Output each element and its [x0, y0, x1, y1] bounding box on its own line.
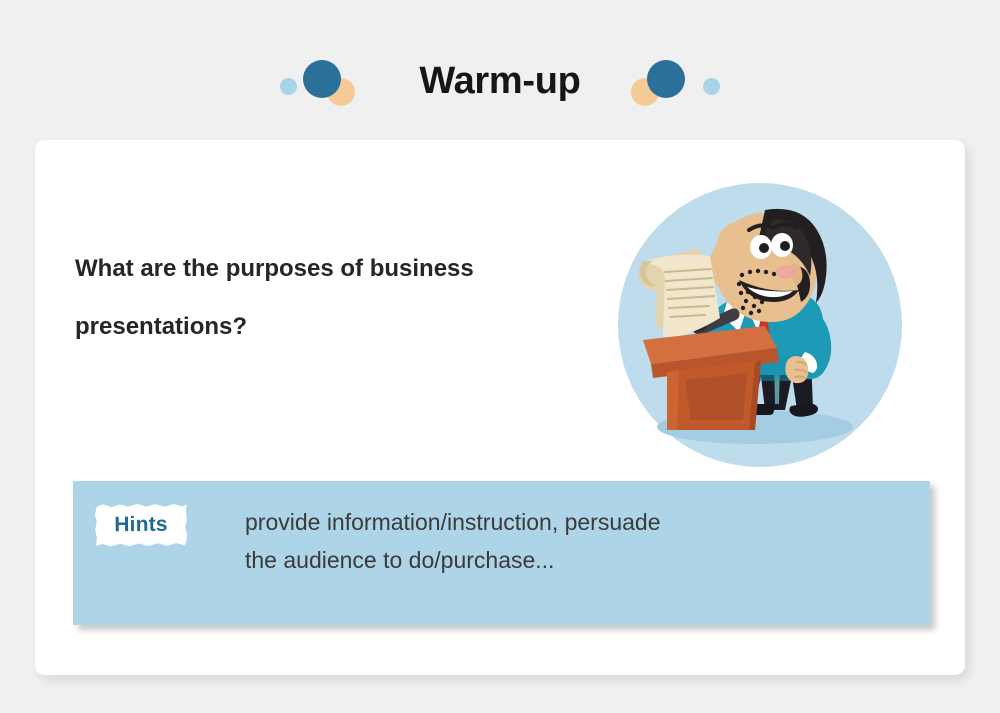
hints-badge-label: Hints: [114, 513, 168, 538]
content-card: What are the purposes of business presen…: [35, 140, 965, 675]
hints-badge: Hints: [95, 503, 187, 548]
hints-text: provide information/instruction, persuad…: [245, 503, 885, 579]
dot-large-blue-icon: [647, 60, 685, 98]
decor-dots-left: [275, 52, 393, 110]
hints-line: the audience to do/purchase...: [245, 541, 885, 579]
hints-line: provide information/instruction, persuad…: [245, 503, 885, 541]
slide-header: Warm-up: [0, 0, 1000, 140]
businessman-speaking-at-podium-icon: [615, 180, 905, 470]
dot-small-light-blue-icon: [280, 78, 297, 95]
dot-small-light-blue-icon: [703, 78, 720, 95]
decor-dots-right: [607, 52, 725, 110]
hints-box: Hints provide information/instruction, p…: [73, 481, 930, 625]
title-row: Warm-up: [0, 52, 1000, 110]
question-text: What are the purposes of business presen…: [75, 240, 615, 356]
page-title: Warm-up: [393, 62, 606, 100]
